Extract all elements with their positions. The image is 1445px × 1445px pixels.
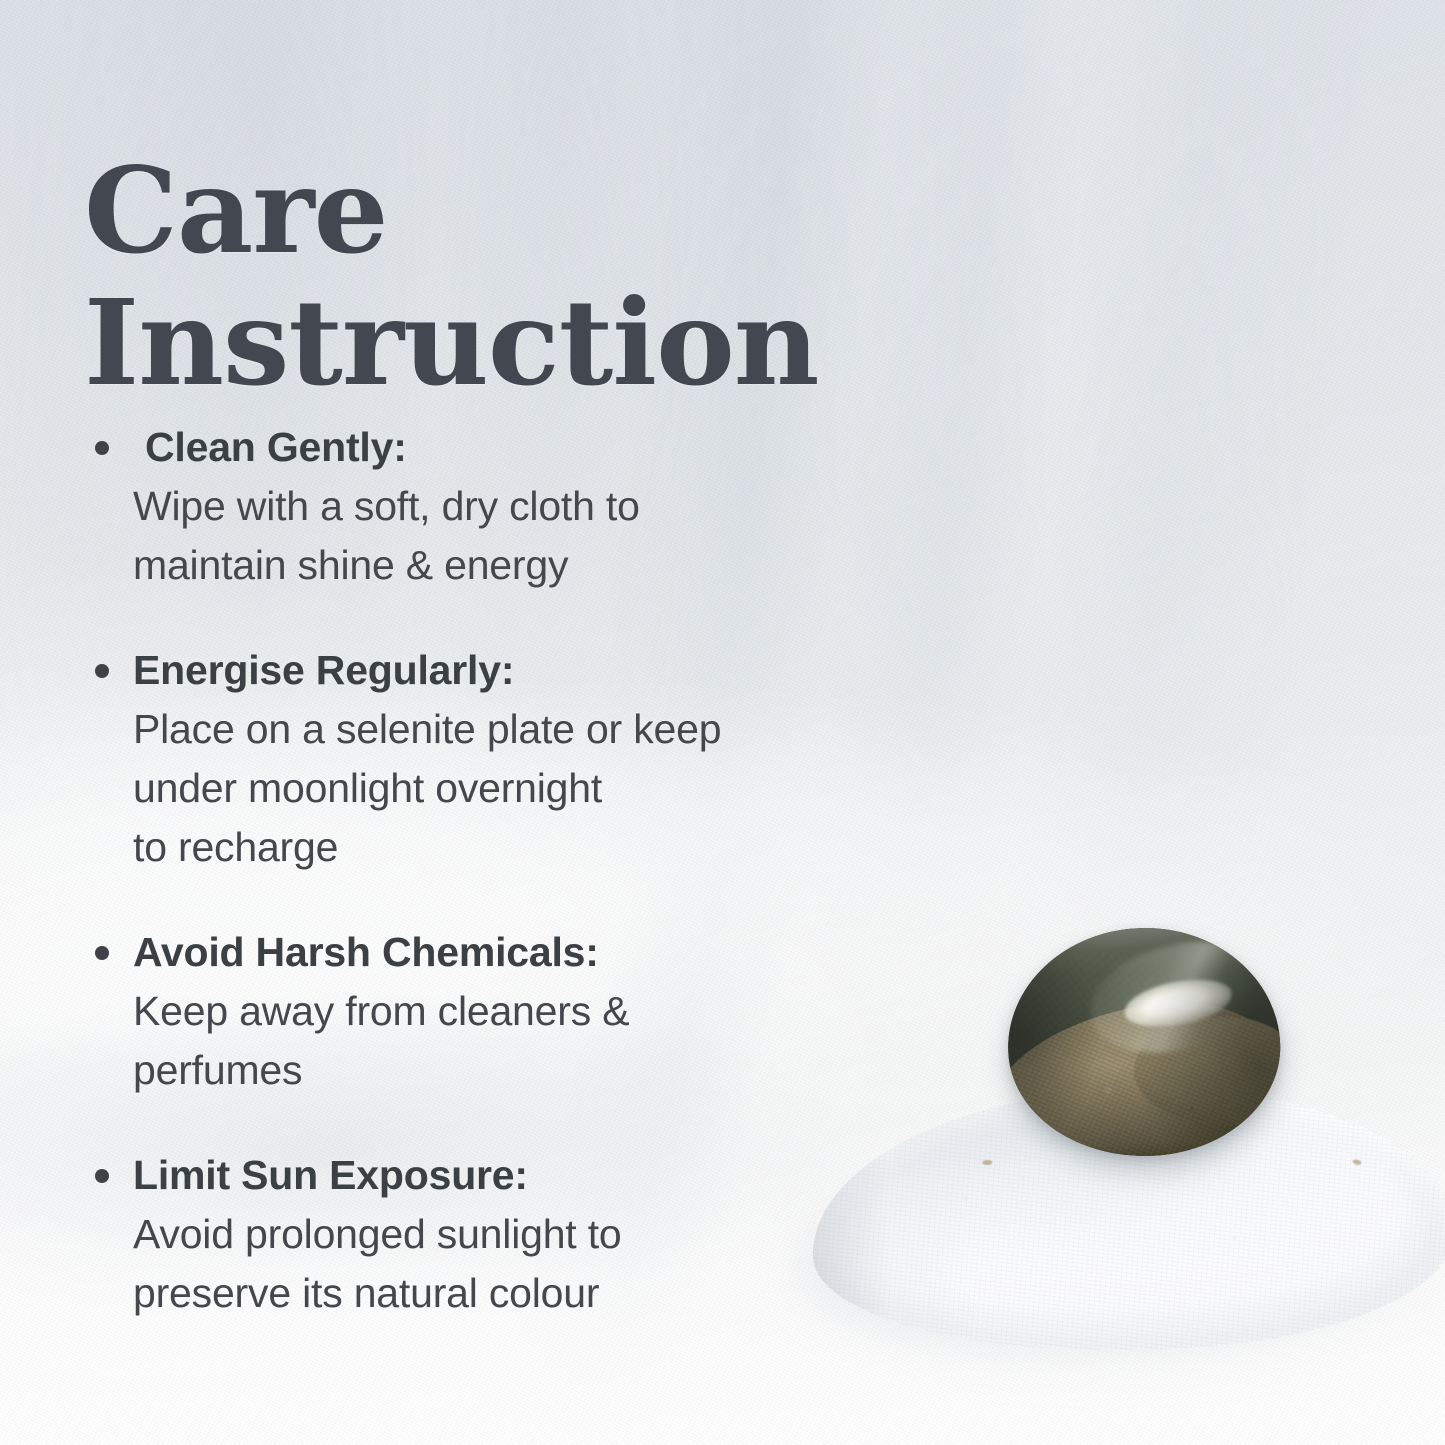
crystal-gloss-sheen <box>1078 925 1278 1070</box>
crystal-edge-shading <box>1004 923 1284 1160</box>
page-title: Care Instruction <box>84 145 844 409</box>
list-item: Limit Sun Exposure: Avoid prolonged sunl… <box>86 1146 1006 1323</box>
crystal-veining <box>1021 949 1188 1073</box>
crystal-dark-surface <box>1004 923 1284 1160</box>
bullet-dot-icon <box>95 664 109 678</box>
list-item-heading: Limit Sun Exposure: <box>133 1146 1006 1205</box>
list-item-body: Place on a selenite plate or keep under … <box>133 700 1006 877</box>
list-item: Energise Regularly: Place on a selenite … <box>86 641 1006 877</box>
crystal-rim-light <box>1004 923 1284 1160</box>
list-item-body: Wipe with a soft, dry cloth to maintain … <box>133 477 1006 595</box>
list-item-body: Keep away from cleaners & perfumes <box>133 982 1006 1100</box>
plate-speck <box>1352 1159 1362 1166</box>
list-item: Clean Gently: Wipe with a soft, dry clot… <box>86 418 1006 595</box>
bullet-dot-icon <box>95 1169 109 1183</box>
list-item-body: Avoid prolonged sunlight to preserve its… <box>133 1205 1006 1323</box>
bullet-dot-icon <box>95 441 109 455</box>
list-item-heading: Avoid Harsh Chemicals: <box>133 923 1006 982</box>
crystal-matte-texture <box>1004 983 1284 1161</box>
crystal-tan-lobe <box>1131 1011 1284 1132</box>
list-item-heading: Energise Regularly: <box>133 641 1006 700</box>
pyrite-crystal <box>1004 923 1284 1160</box>
crystal-specular-highlight <box>1120 972 1235 1035</box>
bullet-dot-icon <box>95 946 109 960</box>
crystal-tan-band <box>1004 983 1284 1161</box>
list-item-heading: Clean Gently: <box>133 418 1006 477</box>
care-instruction-card: Care Instruction Clean Gently: Wipe with… <box>0 0 1445 1445</box>
care-instruction-list: Clean Gently: Wipe with a soft, dry clot… <box>86 418 1006 1323</box>
list-item: Avoid Harsh Chemicals: Keep away from cl… <box>86 923 1006 1100</box>
